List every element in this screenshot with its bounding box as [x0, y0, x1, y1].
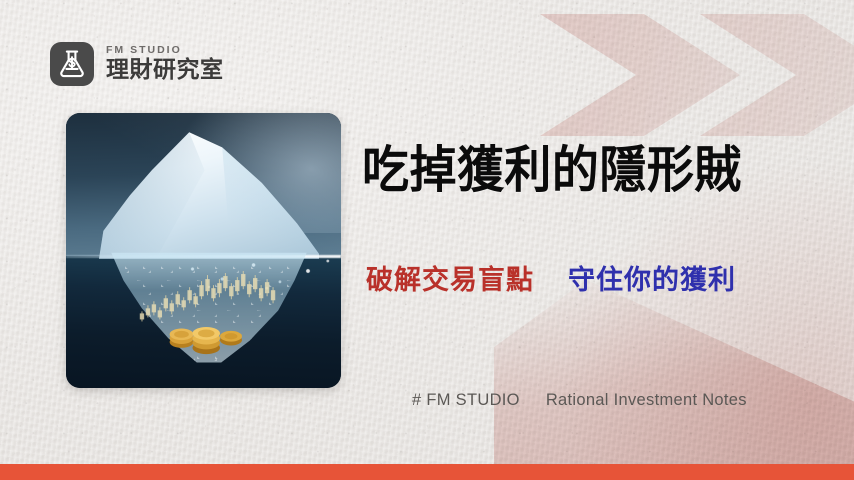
brand-name: 理財研究室: [106, 57, 224, 83]
gold-coins-stack: [165, 317, 248, 356]
subtitle-right: 守住你的獲利: [568, 258, 736, 297]
poster-canvas: FM STUDIO 理財研究室: [0, 0, 854, 480]
hero-image-iceberg[interactable]: [66, 113, 341, 388]
footer-hashtag: # FM STUDIO: [412, 391, 520, 410]
subtitle-left: 破解交易盲點: [366, 258, 534, 297]
brand-kicker: FM STUDIO: [106, 45, 224, 56]
brand-text: FM STUDIO 理財研究室: [106, 45, 224, 82]
footer-tagline: Rational Investment Notes: [546, 391, 747, 410]
subtitle-row: 破解交易盲點 守住你的獲利: [366, 258, 736, 297]
brand-logo-lockup[interactable]: FM STUDIO 理財研究室: [50, 42, 224, 86]
bottom-accent-bar: [0, 464, 854, 480]
flask-dollar-icon: [50, 42, 94, 86]
headline: 吃掉獲利的隱形賊: [362, 143, 794, 197]
footer-row: # FM STUDIO Rational Investment Notes: [412, 391, 747, 410]
